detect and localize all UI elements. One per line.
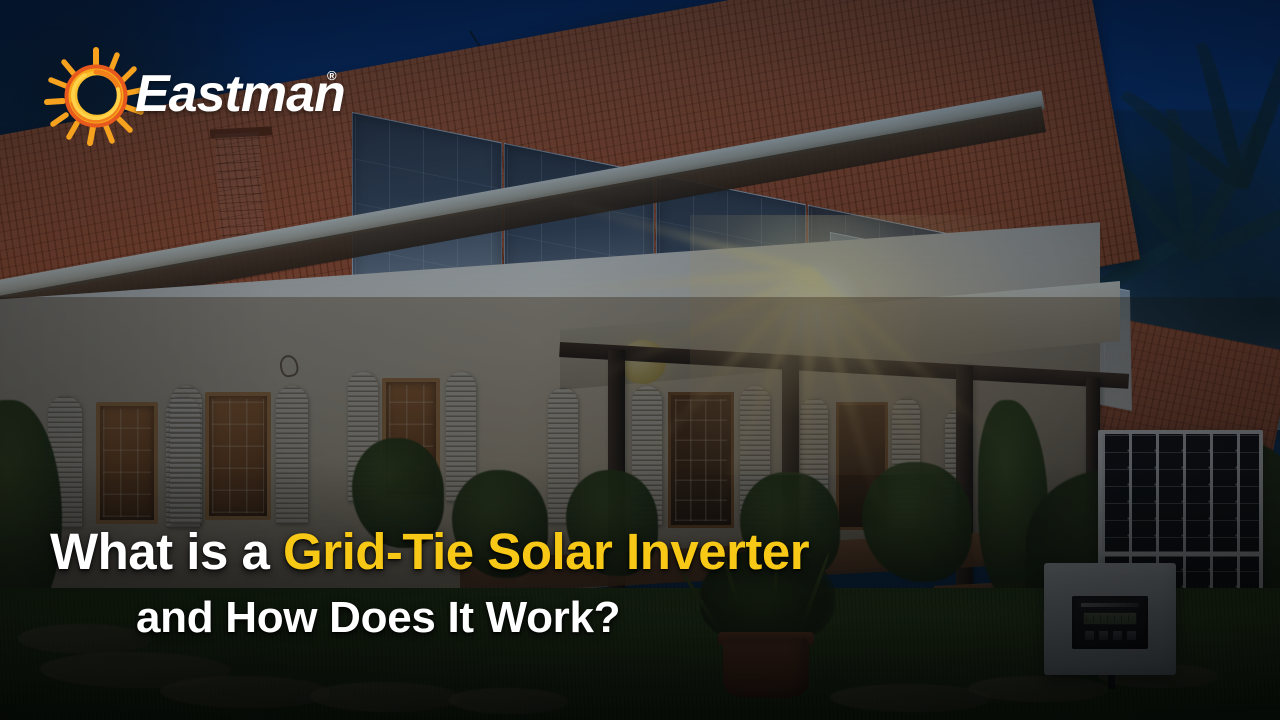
headline-prefix: What is a (50, 523, 283, 580)
brand-wordmark: Eastman (135, 64, 345, 124)
house-window (205, 392, 271, 520)
inverter-button[interactable] (1099, 631, 1108, 640)
registered-trademark-symbol: ® (327, 68, 337, 83)
plant-pot (723, 638, 809, 698)
headline-line-2: and How Does It Work? (50, 593, 1010, 643)
inverter-button[interactable] (1113, 631, 1122, 640)
window-shutter (276, 386, 308, 524)
inverter-button[interactable] (1085, 631, 1094, 640)
inverter-display-panel (1072, 596, 1148, 649)
headline-block: What is a Grid-Tie Solar Inverter and Ho… (0, 524, 1010, 643)
inverter-button-row[interactable] (1085, 631, 1136, 640)
headline-line-1: What is a Grid-Tie Solar Inverter (50, 524, 1010, 579)
inverter-lcd-screen (1083, 612, 1137, 625)
front-door (668, 392, 734, 528)
window-shutter (170, 386, 202, 524)
grid-tie-inverter (1044, 563, 1176, 675)
headline-accent: Grid-Tie Solar Inverter (283, 523, 809, 580)
lcd-segments (1086, 615, 1134, 622)
house-window (96, 402, 158, 524)
sun-swirl-icon (42, 42, 150, 150)
solar-panel-busbar (1102, 552, 1259, 557)
eastman-logo[interactable]: Eastman ® (42, 42, 332, 142)
inverter-button[interactable] (1127, 631, 1136, 640)
hero-banner: Eastman ® What is a Grid-Tie Solar Inver… (0, 0, 1280, 720)
inverter-brand-strip (1081, 603, 1139, 607)
